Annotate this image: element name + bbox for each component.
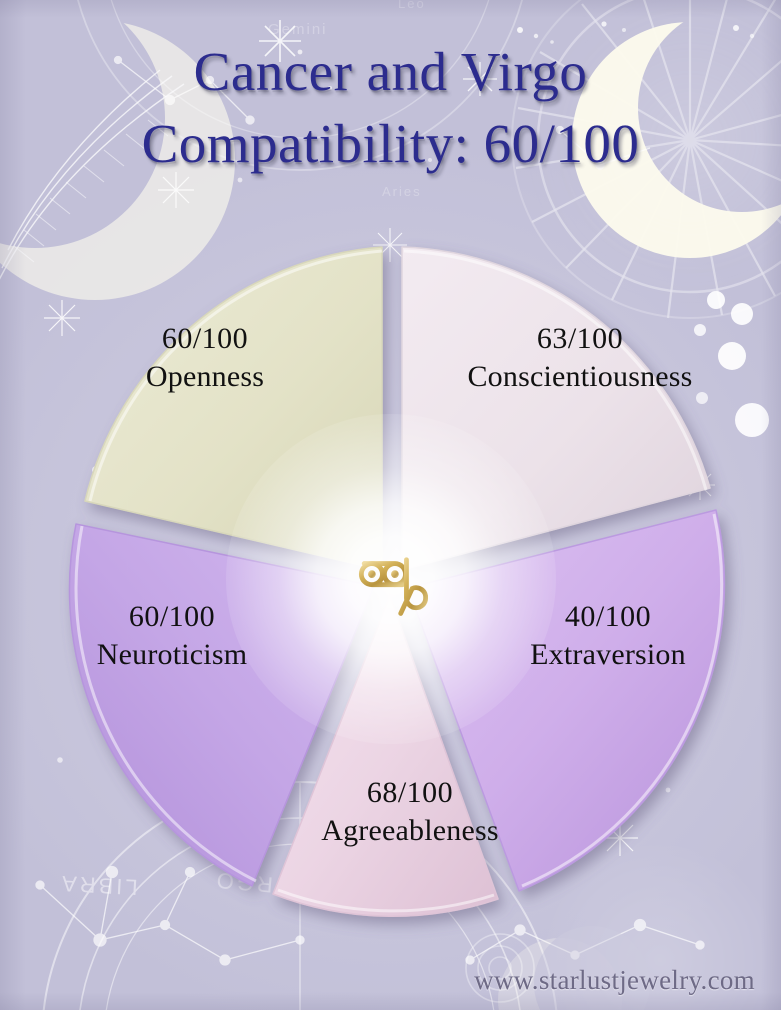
- compatibility-infographic: LIBRA VIRGO Gemini Aries Leo: [0, 0, 781, 1010]
- page-title: Cancer and Virgo Compatibility: 60/100: [0, 36, 781, 180]
- svg-text:Aries: Aries: [382, 184, 422, 199]
- website-url[interactable]: www.starlustjewelry.com: [474, 965, 755, 996]
- title-line-1: Cancer and Virgo: [0, 36, 781, 108]
- svg-text:Leo: Leo: [398, 0, 426, 11]
- title-line-2: Compatibility: 60/100: [0, 108, 781, 180]
- cancer-virgo-zodiac-emblem: [345, 529, 441, 625]
- personality-pie-chart: 60/100 Openness 63/100 Conscientiousness…: [30, 218, 752, 940]
